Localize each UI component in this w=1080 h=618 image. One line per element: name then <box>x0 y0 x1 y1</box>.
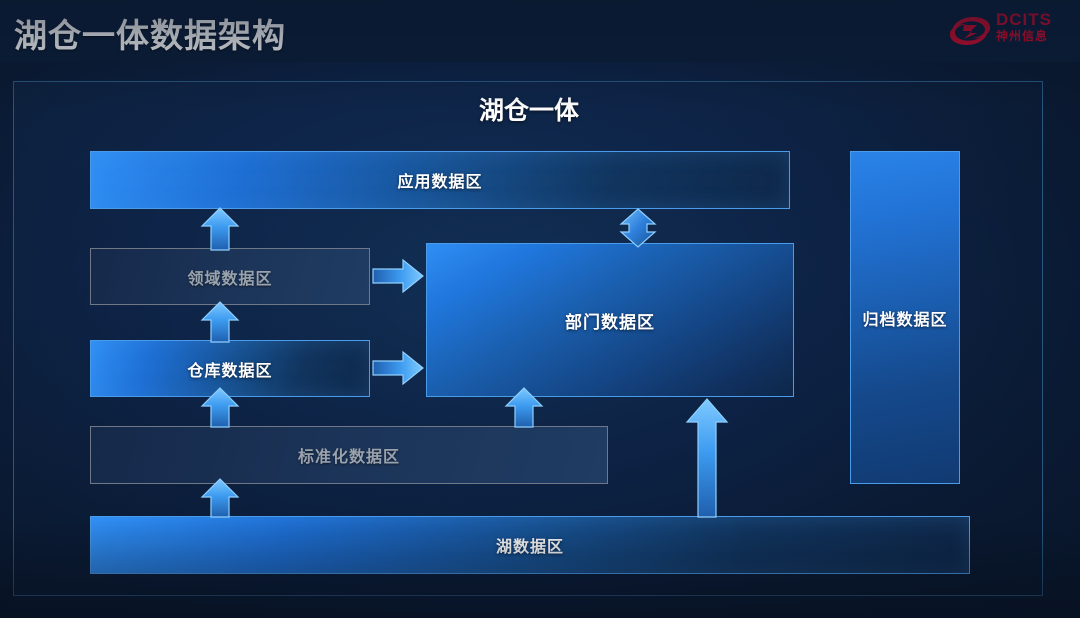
arrow-warehouse-to-department <box>372 350 424 386</box>
logo-cn-text: 神州信息 <box>996 29 1068 44</box>
page-title: 湖仓一体数据架构 <box>14 9 286 57</box>
slide-header: 湖仓一体数据架构 DCITS 神州信息 <box>0 0 1080 62</box>
dcits-logo: DCITS 神州信息 <box>948 8 1068 54</box>
arrow-standardized-to-warehouse <box>200 387 240 428</box>
zone-department-data[interactable]: 部门数据区 <box>426 243 794 397</box>
arrow-domain-to-department <box>372 258 424 294</box>
slide-background: 湖仓一体数据架构 DCITS 神州信息 湖仓一体 应用数据区 领域数据区 <box>0 0 1080 618</box>
dcits-logo-text: DCITS 神州信息 <box>996 10 1068 44</box>
arrow-warehouse-to-domain <box>200 301 240 343</box>
arrow-lake-to-department <box>685 398 729 518</box>
arrow-lake-to-standardized <box>200 478 240 518</box>
zone-lake-data[interactable]: 湖数据区 <box>90 516 970 574</box>
arrow-department-to-application <box>616 208 660 248</box>
dcits-swoosh-icon <box>948 12 992 50</box>
diagram-title: 湖仓一体 <box>14 91 1044 127</box>
logo-en-text: DCITS <box>996 10 1068 29</box>
zone-standardized-data[interactable]: 标准化数据区 <box>90 426 608 484</box>
zone-application-data[interactable]: 应用数据区 <box>90 151 790 209</box>
arrow-standardized-to-department <box>504 387 544 428</box>
diagram-frame: 湖仓一体 应用数据区 领域数据区 仓库数据区 标准化数据区 湖数据区 部门数据区… <box>13 81 1043 596</box>
zone-archive-data[interactable]: 归档数据区 <box>850 151 960 484</box>
zone-domain-data[interactable]: 领域数据区 <box>90 248 370 305</box>
arrow-domain-to-application <box>200 207 240 251</box>
